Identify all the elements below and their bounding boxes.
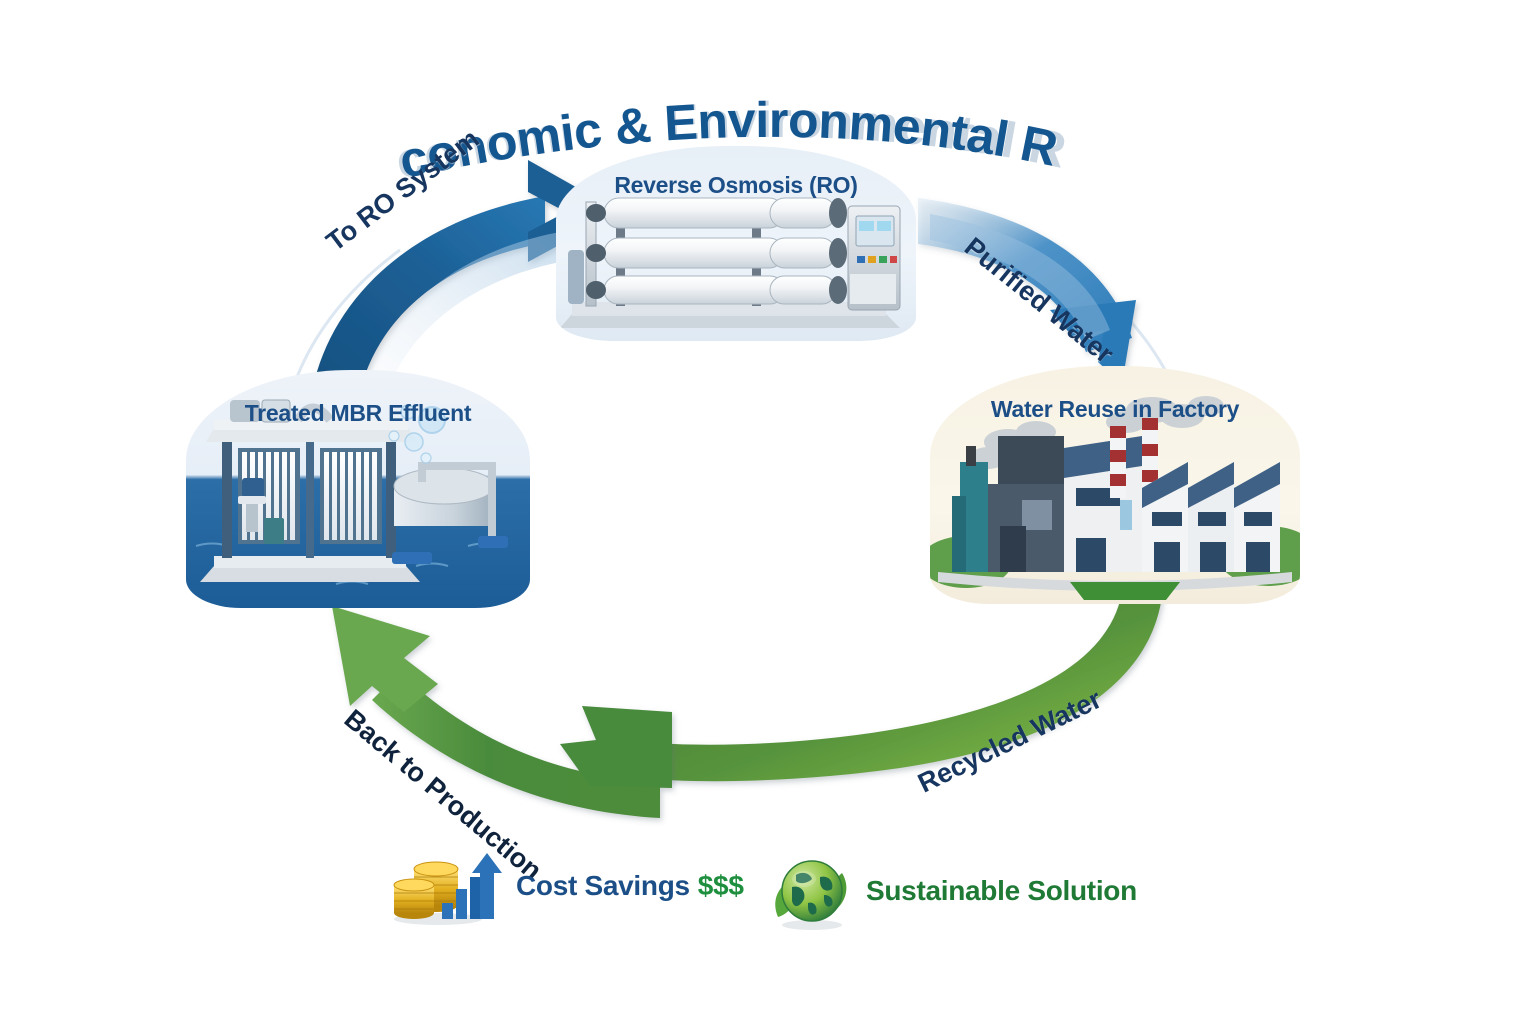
legend-item-cost-savings[interactable]: Cost Savings$$$: [392, 847, 744, 925]
legend-cost-savings-label: Cost Savings: [516, 870, 690, 901]
coins-bar-chart-arrow-icon: [392, 847, 502, 925]
page-title: Economic & Environmental ROI Economic & …: [0, 48, 1536, 158]
node-ro-label: Reverse Osmosis (RO): [556, 172, 916, 199]
legend-item-sustainable-solution[interactable]: Sustainable Solution: [770, 851, 1137, 931]
node-reverse-osmosis[interactable]: Reverse Osmosis (RO): [556, 146, 916, 341]
green-globe-leaf-icon: [770, 851, 852, 931]
legend: Cost Savings$$$: [0, 845, 1536, 945]
legend-cost-savings-money: $$$: [698, 870, 744, 901]
node-water-reuse-in-factory[interactable]: Water Reuse in Factory: [930, 366, 1300, 604]
arrow-back-to-production: [332, 606, 672, 818]
node-factory-label: Water Reuse in Factory: [930, 396, 1300, 423]
arrow-label-recycled-water: Recycled Water: [913, 684, 1106, 800]
node-treated-mbr-effluent[interactable]: Treated MBR Effluent: [186, 370, 530, 608]
arrow-recycled-water: [640, 592, 1162, 781]
arrow-label-purified-water: Purified Water: [958, 231, 1119, 370]
legend-sustainable-solution-label: Sustainable Solution: [866, 875, 1137, 907]
node-mbr-label: Treated MBR Effluent: [186, 400, 530, 427]
infographic-canvas: Economic & Environmental ROI Economic & …: [0, 0, 1536, 1024]
title-svg: Economic & Environmental ROI Economic & …: [0, 48, 1536, 158]
